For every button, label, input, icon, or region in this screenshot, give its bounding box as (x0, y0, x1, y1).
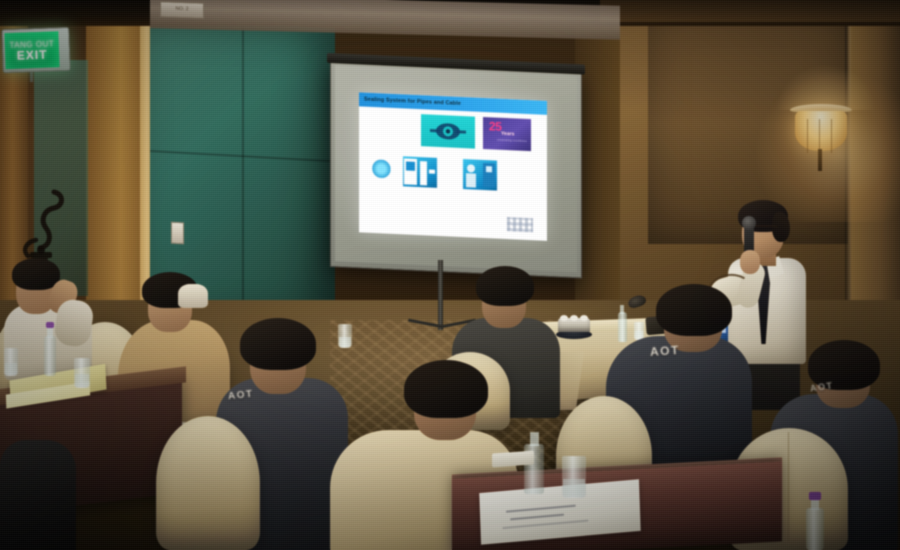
exit-sign-face: TANG OUT EXIT (4, 31, 59, 69)
water-glass-left-1 (4, 348, 18, 376)
exit-sign: TANG OUT EXIT (1, 27, 70, 73)
stacked-cups (558, 318, 590, 332)
sconce-shade (795, 111, 847, 151)
water-bottle-left-cap (46, 322, 54, 328)
slide-anniversary-badge: 25 Years celebrating excellence (483, 117, 531, 151)
water-glass-front (562, 456, 586, 498)
attendee-tan-left-cap (178, 284, 208, 308)
wall-sconce-light (790, 104, 852, 162)
attendee-aot-right-hair (656, 284, 732, 336)
projection-screen: Sealing System for Pipes and Cable 25 Ye… (330, 60, 582, 278)
water-bottle-right (806, 508, 824, 550)
attendee-beige-center-hair (404, 360, 488, 418)
presentation-slide: Sealing System for Pipes and Cable 25 Ye… (359, 92, 547, 241)
slide-product-photo-2 (403, 156, 437, 188)
water-bottle-right-cap (809, 492, 821, 500)
attendee-aot-center-left-hair (240, 318, 316, 370)
napkin (492, 451, 534, 468)
seal-module-icon (428, 120, 468, 142)
microphone-head-icon (742, 216, 756, 230)
chair-front-left[interactable] (156, 416, 260, 550)
exit-sign-line2: EXIT (17, 48, 48, 61)
water-bottle-front-neck (530, 432, 539, 446)
ceiling-soffit-right (600, 0, 900, 22)
slide-product-photo-1 (371, 155, 397, 186)
water-glass-left-2 (74, 358, 90, 388)
far-right-wall (851, 0, 900, 330)
water-bottle-left (44, 336, 56, 376)
slide-corporate-logo (507, 217, 533, 232)
conference-room-photo: NO. 2 TANG OUT EXIT (0, 0, 900, 550)
slide-hero-graphic (421, 114, 475, 148)
attendee-edge-bottom-left-body (0, 440, 76, 550)
sconce-stem (818, 149, 822, 171)
badge-subtitle: celebrating excellence (497, 139, 527, 143)
aot-logo-right: AOT (650, 343, 681, 359)
ceiling-plaque: NO. 2 (160, 1, 204, 19)
attendee-dark-center-hair (476, 266, 534, 306)
screen-tripod-pole (438, 260, 443, 330)
water-glass-mid (338, 324, 352, 348)
slide-product-photo-3 (463, 159, 497, 191)
badge-word: Years (501, 131, 514, 138)
badge-number: 25 (489, 120, 501, 133)
presenter-hand (740, 250, 760, 274)
attendee-edge-bottom-left (0, 440, 74, 550)
wall-switch-plate[interactable] (171, 222, 184, 245)
